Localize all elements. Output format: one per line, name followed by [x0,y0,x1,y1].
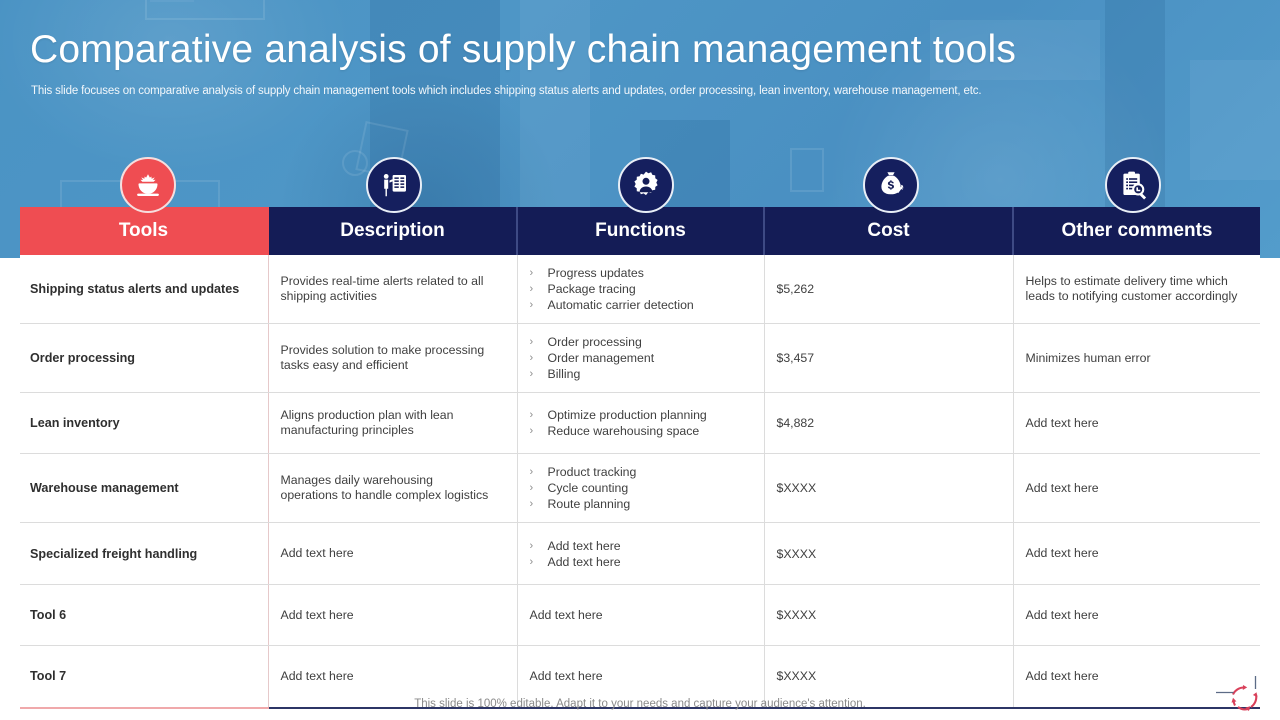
chevron-right-icon: › [530,350,534,366]
function-list-item: ›Order processing [530,334,752,350]
function-list-item: ›Add text here [530,554,752,570]
gear-tools-icon [120,157,176,213]
chevron-right-icon: › [530,297,534,313]
table-body: Shipping status alerts and updatesProvid… [20,255,1260,708]
chevron-right-icon: › [530,554,534,570]
column-header-description: Description [268,207,517,255]
cell-functions: ›Progress updates›Package tracing›Automa… [517,255,764,324]
function-list-item: ›Add text here [530,538,752,554]
cell-description: Add text here [268,585,517,646]
table-header-row: Tools Description Functions Cost Other c… [20,207,1260,255]
slide-subtitle: This slide focuses on comparative analys… [31,85,981,97]
cell-other-comments: Add text here [1013,585,1260,646]
column-header-tools: Tools [20,207,268,255]
comparison-table: Tools Description Functions Cost Other c… [20,207,1260,709]
cell-cost: $XXXX [764,585,1013,646]
cell-description: Provides real-time alerts related to all… [268,255,517,324]
function-list-item: ›Order management [530,350,752,366]
clipboard-search-icon [1105,157,1161,213]
cell-description: Manages daily warehousingoperations to h… [268,454,517,523]
chevron-right-icon: › [530,538,534,554]
cell-cost: $XXXX [764,454,1013,523]
column-header-functions: Functions [517,207,764,255]
function-list-item: ›Package tracing [530,281,752,297]
cell-functions: Add text here [517,585,764,646]
cell-cost: $4,882 [764,393,1013,454]
cell-other-comments: Add text here [1013,393,1260,454]
function-list-item: ›Billing [530,366,752,382]
chevron-right-icon: › [530,281,534,297]
user-gear-icon [618,157,674,213]
cell-cost: $3,457 [764,324,1013,393]
table-row: Warehouse managementManages daily wareho… [20,454,1260,523]
slide-title: Comparative analysis of supply chain man… [30,28,1016,72]
function-list-item: ›Automatic carrier detection [530,297,752,313]
column-header-other-comments: Other comments [1013,207,1260,255]
chevron-right-icon: › [530,464,534,480]
cell-other-comments: Add text here [1013,523,1260,585]
column-header-cost: Cost [764,207,1013,255]
cell-tool: Tool 6 [20,585,268,646]
cell-tool: Specialized freight handling [20,523,268,585]
chevron-right-icon: › [530,480,534,496]
cell-description: Provides solution to make processingtask… [268,324,517,393]
cell-functions: ›Product tracking›Cycle counting›Route p… [517,454,764,523]
cell-functions: ›Optimize production planning›Reduce war… [517,393,764,454]
cell-cost: $XXXX [764,523,1013,585]
cell-other-comments: Helps to estimate delivery time whichlea… [1013,255,1260,324]
chevron-right-icon: › [530,265,534,281]
chevron-right-icon: › [530,496,534,512]
footer-note: This slide is 100% editable. Adapt it to… [0,698,1280,710]
table-row: Specialized freight handlingAdd text her… [20,523,1260,585]
chevron-right-icon: › [530,366,534,382]
cell-tool: Warehouse management [20,454,268,523]
cell-description: Add text here [268,523,517,585]
chevron-right-icon: › [530,334,534,350]
cell-cost: $5,262 [764,255,1013,324]
cell-functions: ›Order processing›Order management›Billi… [517,324,764,393]
cell-other-comments: Minimizes human error [1013,324,1260,393]
function-list-item: ›Cycle counting [530,480,752,496]
table-row: Order processingProvides solution to mak… [20,324,1260,393]
slide-canvas: Comparative analysis of supply chain man… [0,0,1280,720]
cell-tool: Lean inventory [20,393,268,454]
table-row: Tool 6Add text hereAdd text here$XXXXAdd… [20,585,1260,646]
cell-tool: Shipping status alerts and updates [20,255,268,324]
cell-description: Aligns production plan with leanmanufact… [268,393,517,454]
function-list-item: ›Route planning [530,496,752,512]
table-row: Lean inventoryAligns production plan wit… [20,393,1260,454]
comparison-table-wrapper: Tools Description Functions Cost Other c… [20,207,1260,709]
cell-other-comments: Add text here [1013,454,1260,523]
chevron-right-icon: › [530,423,534,439]
function-list-item: ›Optimize production planning [530,407,752,423]
cell-functions: ›Add text here›Add text here [517,523,764,585]
cell-tool: Order processing [20,324,268,393]
table-row: Shipping status alerts and updatesProvid… [20,255,1260,324]
money-bag-growth-icon [863,157,919,213]
function-list-item: ›Progress updates [530,265,752,281]
function-list-item: ›Reduce warehousing space [530,423,752,439]
chevron-right-icon: › [530,407,534,423]
presenter-board-icon [366,157,422,213]
function-list-item: ›Product tracking [530,464,752,480]
circular-arrows-logo [1216,676,1274,718]
